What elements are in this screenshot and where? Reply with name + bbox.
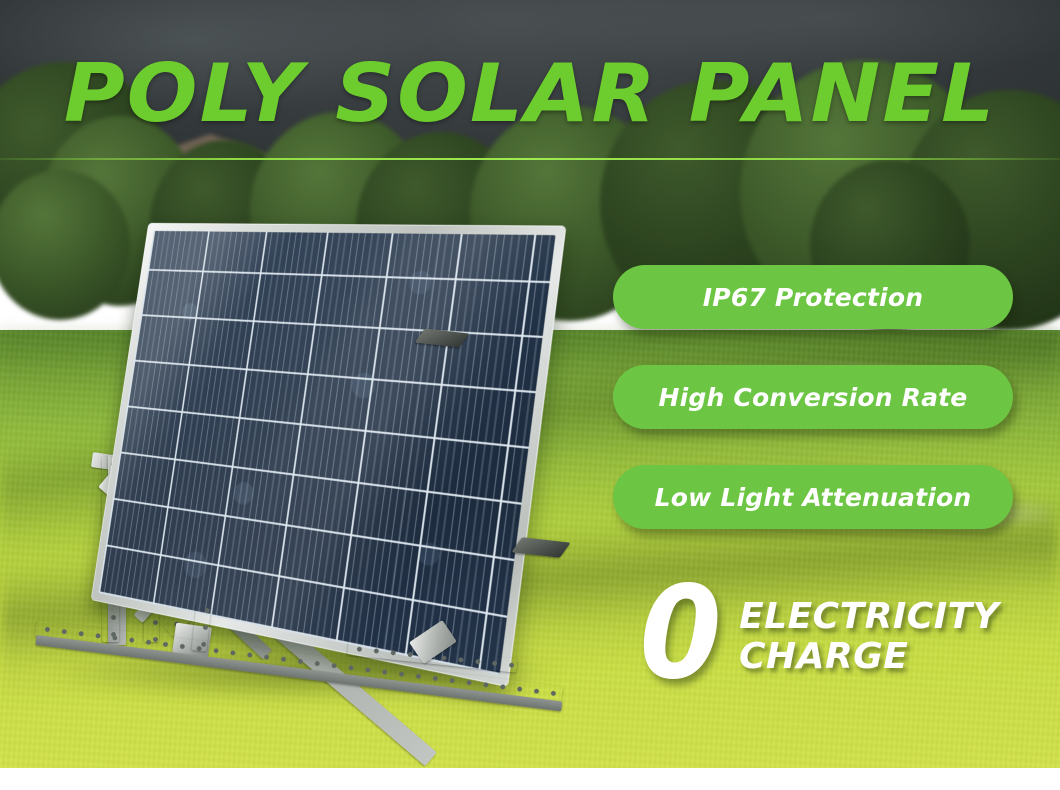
feature-pill-label: IP67 Protection bbox=[703, 283, 923, 312]
page-title: POLY SOLAR PANEL bbox=[0, 54, 1060, 134]
glass-sheen bbox=[99, 231, 556, 675]
feature-pill-high-conversion-rate[interactable]: High Conversion Rate bbox=[613, 365, 1013, 429]
feature-pill-label: High Conversion Rate bbox=[659, 383, 968, 412]
bottom-white-strip bbox=[0, 768, 1060, 790]
poly-solar-panel-banner: POLY SOLAR PANEL bbox=[0, 0, 1060, 790]
header-divider-rule bbox=[0, 158, 1060, 160]
feature-list: IP67 Protection High Conversion Rate Low… bbox=[613, 265, 1013, 529]
zero-number: 0 bbox=[640, 582, 722, 687]
zero-electricity-charge-badge: 0 ELECTRICITY CHARGE bbox=[636, 582, 999, 687]
zero-charge-line-2: CHARGE bbox=[739, 637, 999, 677]
feature-pill-low-light-attenuation[interactable]: Low Light Attenuation bbox=[613, 465, 1013, 529]
zero-charge-line-1: ELECTRICITY bbox=[739, 597, 999, 637]
panel-aluminium-frame bbox=[91, 223, 567, 687]
zero-charge-text: ELECTRICITY CHARGE bbox=[739, 597, 999, 678]
feature-pill-label: Low Light Attenuation bbox=[655, 483, 972, 512]
solar-panel-product-image bbox=[18, 205, 618, 725]
pv-panel bbox=[91, 223, 567, 687]
feature-pill-ip67[interactable]: IP67 Protection bbox=[613, 265, 1013, 329]
panel-cell-surface bbox=[99, 231, 556, 675]
